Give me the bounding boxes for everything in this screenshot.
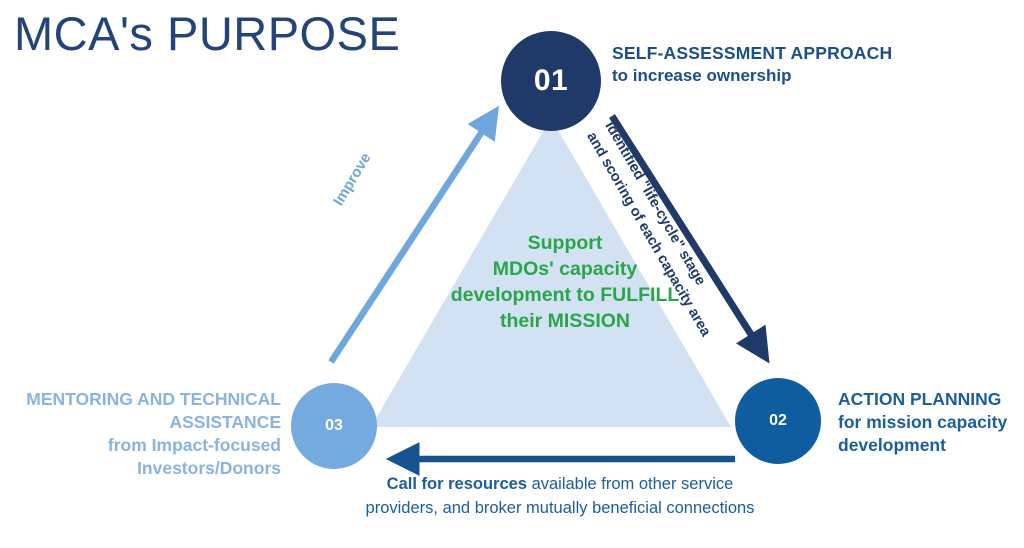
node-number-01: 01 [534, 64, 568, 98]
node-label-02: ACTION PLANNING for mission capacity dev… [838, 388, 1024, 457]
caption-strong-text: Call for resources [387, 475, 527, 493]
node-02-subtext-line1: for mission capacity [838, 411, 1024, 434]
node-01-heading: SELF-ASSESSMENT APPROACH [612, 42, 942, 65]
node-01-subtext: to increase ownership [612, 65, 942, 87]
node-03-subtext-line2: Investors/Donors [0, 457, 281, 480]
node-03-heading-line1: MENTORING AND TECHNICAL [0, 388, 281, 411]
diagram-canvas: MCA's PURPOSE 01 SELF-ASSESSMENT APPROAC… [0, 0, 1024, 548]
node-circle-03[interactable]: 03 [291, 383, 377, 469]
node-label-03: MENTORING AND TECHNICAL ASSISTANCE from … [0, 388, 281, 480]
node-circle-01[interactable]: 01 [501, 31, 601, 131]
node-label-01: SELF-ASSESSMENT APPROACH to increase own… [612, 42, 942, 88]
center-line-4: their MISSION [420, 309, 710, 335]
node-02-subtext-line2: development [838, 434, 1024, 457]
node-03-heading-line2: ASSISTANCE [0, 411, 281, 434]
node-number-02: 02 [769, 412, 787, 430]
node-03-subtext-line1: from Impact-focused [0, 434, 281, 457]
node-circle-02[interactable]: 02 [735, 378, 821, 464]
node-02-heading: ACTION PLANNING [838, 388, 1024, 411]
arrow-caption-call-for-resources: Call for resources available from other … [360, 473, 760, 521]
node-number-03: 03 [325, 417, 343, 435]
